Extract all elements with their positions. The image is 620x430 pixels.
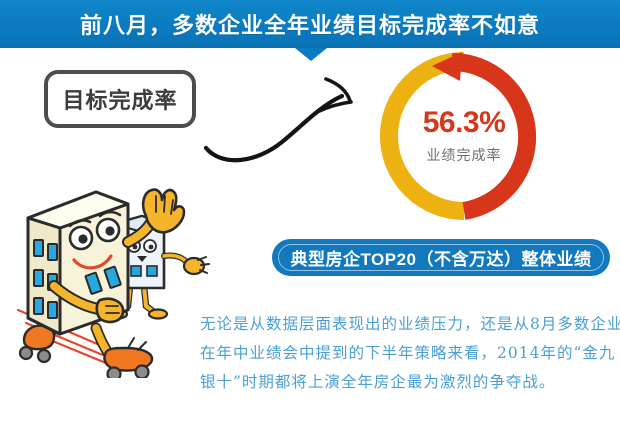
paragraph-line-2: 在年中业绩会中提到的下半年策略来看，2014年的“金九 [200, 339, 612, 368]
paragraph-line-1: 无论是从数据层面表现出的业绩压力，还是从8月多数企业 [200, 310, 612, 339]
summary-paragraph: 无论是从数据层面表现出的业绩压力，还是从8月多数企业 在年中业绩会中提到的下半年… [200, 310, 612, 397]
donut-svg [380, 52, 548, 220]
target-completion-label-text: 目标完成率 [62, 83, 177, 115]
small-building-hand-icon [184, 257, 209, 274]
page-title: 前八月，多数企业全年业绩目标完成率不如意 [0, 0, 620, 48]
target-completion-label-box: 目标完成率 [44, 70, 196, 128]
header-banner: 前八月，多数企业全年业绩目标完成率不如意 [0, 0, 620, 48]
fist-icon [97, 299, 123, 322]
curved-pointer-arrow-icon [200, 68, 365, 178]
completion-donut-chart: 56.3% 业绩完成率 [380, 52, 548, 220]
waving-hand-icon [143, 190, 184, 233]
top20-performance-pill[interactable]: 典型房企TOP20（不含万达）整体业绩 [272, 239, 610, 276]
pill-label: 典型房企TOP20（不含万达）整体业绩 [290, 245, 591, 270]
donut-remaining-arc [389, 61, 464, 211]
infographic-canvas: 前八月，多数企业全年业绩目标完成率不如意 目标完成率 56.3% 业绩完成率 [0, 0, 620, 430]
back-roller-skate-icon [20, 326, 54, 362]
front-roller-skate-icon [105, 338, 153, 378]
donut-completed-arc [452, 62, 527, 211]
paragraph-line-3: 银十”时期都将上演全年房企最为激烈的争夺战。 [200, 368, 612, 397]
banner-notch-triangle [295, 48, 327, 61]
